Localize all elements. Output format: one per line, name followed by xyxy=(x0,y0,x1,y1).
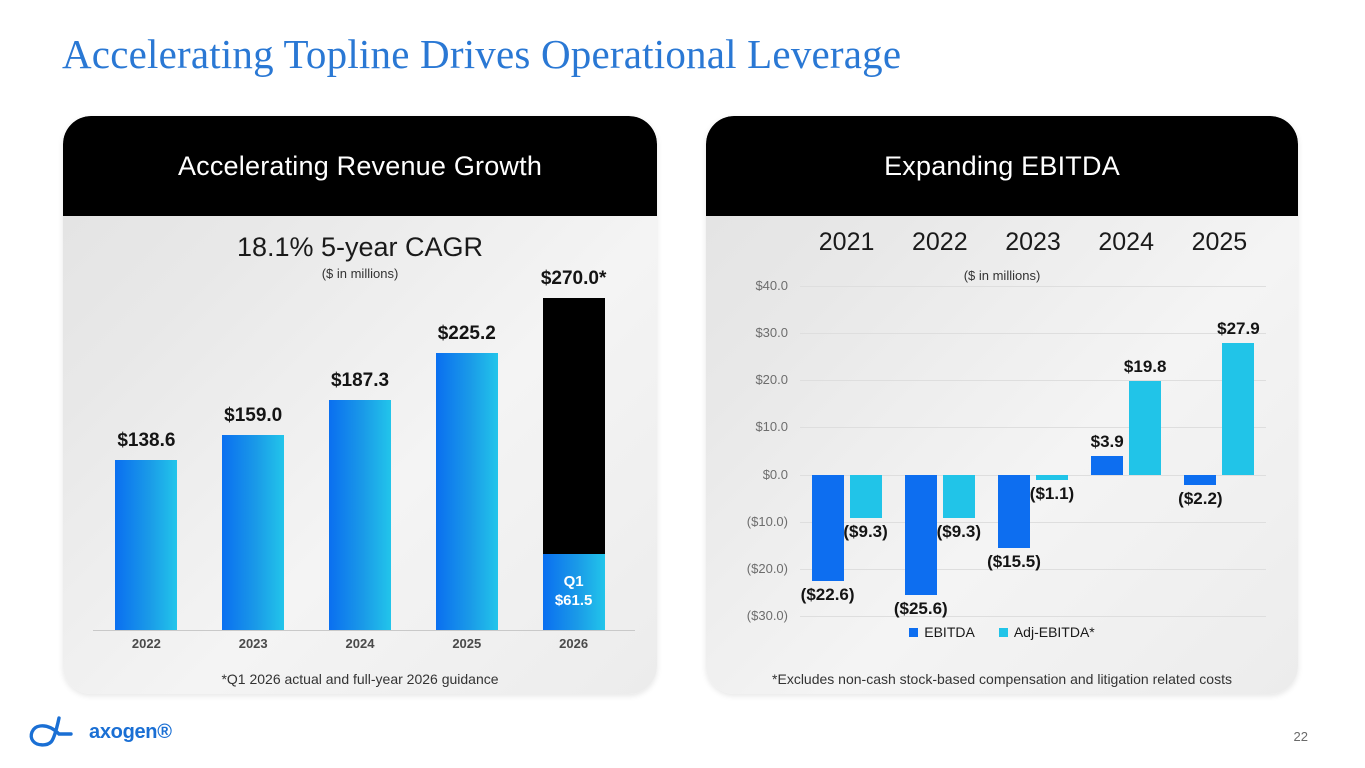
ebitda-y-tick-label: ($30.0) xyxy=(708,608,788,623)
revenue-card-body: 18.1% 5-year CAGR ($ in millions) $138.6… xyxy=(63,216,657,694)
ebitda-y-tick-label: $30.0 xyxy=(708,325,788,340)
legend-item[interactable]: EBITDA xyxy=(909,624,975,640)
legend-swatch-icon xyxy=(999,628,1008,637)
revenue-bar-value-label: $159.0 xyxy=(199,405,307,427)
ebitda-legend: EBITDAAdj-EBITDA* xyxy=(706,624,1298,640)
legend-label: Adj-EBITDA* xyxy=(1014,624,1095,640)
page-number: 22 xyxy=(1294,729,1308,744)
ebitda-y-tick-label: $0.0 xyxy=(708,467,788,482)
ebitda-bar-value-label: ($1.1) xyxy=(1006,484,1098,504)
ebitda-footnote: *Excludes non-cash stock-based compensat… xyxy=(706,671,1298,687)
revenue-bar xyxy=(436,353,498,630)
revenue-bar-value-label: $225.2 xyxy=(413,323,521,345)
revenue-bar-value-label: $187.3 xyxy=(306,370,414,392)
revenue-bar-column: Q1$61.5$270.0* xyxy=(543,278,605,630)
revenue-q1-label: Q1$61.5 xyxy=(543,572,605,610)
ebitda-bar xyxy=(943,475,975,519)
ebitda-bar-value-label: ($22.6) xyxy=(782,585,874,605)
revenue-bar-column: $187.3 xyxy=(329,278,391,630)
legend-item[interactable]: Adj-EBITDA* xyxy=(999,624,1095,640)
revenue-q1-label-title: Q1 xyxy=(543,572,605,591)
ebitda-bar xyxy=(1129,381,1161,474)
cagr-heading: 18.1% 5-year CAGR xyxy=(63,232,657,263)
ebitda-y-tick-label: $20.0 xyxy=(708,372,788,387)
ebitda-bar-value-label: $27.9 xyxy=(1192,319,1284,339)
revenue-axis-line xyxy=(93,630,635,631)
revenue-q1-label-value: $61.5 xyxy=(543,591,605,610)
ebitda-bar xyxy=(1222,343,1254,475)
ebitda-bar xyxy=(850,475,882,519)
ebitda-y-tick-label: $40.0 xyxy=(708,278,788,293)
ebitda-year-label: 2025 xyxy=(1164,228,1274,257)
revenue-bar-column: $159.0 xyxy=(222,278,284,630)
revenue-bar xyxy=(115,460,177,630)
axogen-logo: axogen® xyxy=(25,712,205,752)
ebitda-card-header-title: Expanding EBITDA xyxy=(884,151,1120,182)
revenue-bar-plot: $138.6$159.0$187.3$225.2Q1$61.5$270.0* xyxy=(93,278,627,630)
axogen-mark-icon xyxy=(25,712,81,750)
ebitda-card-header: Expanding EBITDA xyxy=(706,116,1298,216)
ebitda-bar-value-label: ($25.6) xyxy=(875,599,967,619)
ebitda-gridline xyxy=(800,286,1266,287)
revenue-bar-value-label: $138.6 xyxy=(92,430,200,452)
ebitda-y-tick-label: $10.0 xyxy=(708,419,788,434)
legend-swatch-icon xyxy=(909,628,918,637)
ebitda-bar-value-label: ($9.3) xyxy=(820,522,912,542)
ebitda-bar xyxy=(1036,475,1068,480)
revenue-category-label: 2023 xyxy=(203,636,303,651)
revenue-category-label: 2024 xyxy=(310,636,410,651)
ebitda-gridline xyxy=(800,427,1266,428)
revenue-card-header-title: Accelerating Revenue Growth xyxy=(178,151,542,182)
ebitda-bar xyxy=(1091,456,1123,474)
revenue-bar-column: $225.2 xyxy=(436,278,498,630)
ebitda-units-label: ($ in millions) xyxy=(706,268,1298,283)
revenue-bar-value-label: $270.0* xyxy=(520,268,628,290)
revenue-chart-card: Accelerating Revenue Growth 18.1% 5-year… xyxy=(63,116,657,694)
revenue-bar-column: $138.6 xyxy=(115,278,177,630)
ebitda-gridline xyxy=(800,616,1266,617)
revenue-category-label: 2026 xyxy=(524,636,624,651)
ebitda-bar-value-label: ($2.2) xyxy=(1154,489,1246,509)
revenue-bar xyxy=(222,435,284,631)
legend-label: EBITDA xyxy=(924,624,975,640)
revenue-category-label: 2022 xyxy=(96,636,196,651)
ebitda-bar xyxy=(1184,475,1216,485)
revenue-category-label: 2025 xyxy=(417,636,517,651)
ebitda-y-tick-label: ($10.0) xyxy=(708,514,788,529)
ebitda-chart-card: Expanding EBITDA 20212022202320242025 ($… xyxy=(706,116,1298,694)
ebitda-bar-value-label: $19.8 xyxy=(1099,357,1191,377)
revenue-footnote: *Q1 2026 actual and full-year 2026 guida… xyxy=(63,671,657,687)
ebitda-gridline xyxy=(800,380,1266,381)
ebitda-bar-plot: $40.0$30.0$20.0$10.0$0.0($10.0)($20.0)($… xyxy=(800,286,1266,616)
ebitda-card-body: 20212022202320242025 ($ in millions) $40… xyxy=(706,216,1298,694)
axogen-wordmark: axogen® xyxy=(89,721,172,744)
ebitda-bar-value-label: ($15.5) xyxy=(968,552,1060,572)
revenue-bar xyxy=(329,400,391,630)
revenue-card-header: Accelerating Revenue Growth xyxy=(63,116,657,216)
ebitda-bar-value-label: ($9.3) xyxy=(913,522,1005,542)
page-title: Accelerating Topline Drives Operational … xyxy=(62,30,901,78)
ebitda-y-tick-label: ($20.0) xyxy=(708,561,788,576)
